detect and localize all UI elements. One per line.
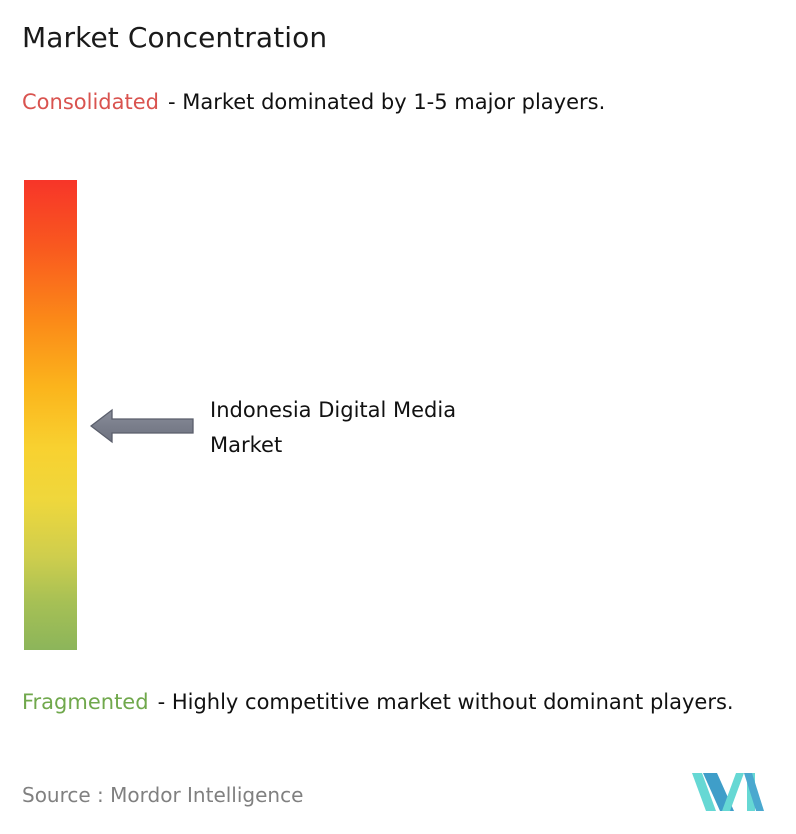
- marker-label-line1: Indonesia Digital Media: [210, 393, 610, 428]
- source-line: Source : Mordor Intelligence: [22, 782, 303, 808]
- source-value: Mordor Intelligence: [110, 783, 303, 807]
- mordor-intelligence-logo-icon: [692, 769, 764, 815]
- marker-arrow: [90, 407, 194, 445]
- page-title: Market Concentration: [22, 20, 327, 56]
- source-label: Source :: [22, 783, 104, 807]
- legend-fragmented: Fragmented- Highly competitive market wi…: [22, 686, 782, 718]
- marker-label: Indonesia Digital Media Market: [210, 393, 610, 463]
- legend-consolidated-keyword: Consolidated: [22, 90, 159, 114]
- legend-consolidated: Consolidated- Market dominated by 1-5 ma…: [22, 86, 774, 118]
- legend-fragmented-keyword: Fragmented: [22, 690, 149, 714]
- legend-consolidated-description: - Market dominated by 1-5 major players.: [168, 90, 605, 114]
- marker-label-line2: Market: [210, 428, 610, 463]
- brand-logo: [692, 769, 764, 815]
- legend-fragmented-description: - Highly competitive market without domi…: [158, 690, 734, 714]
- arrow-left-icon: [90, 407, 194, 445]
- market-concentration-gradient-bar: [24, 180, 77, 650]
- chart-canvas: Market Concentration Consolidated- Marke…: [0, 0, 796, 834]
